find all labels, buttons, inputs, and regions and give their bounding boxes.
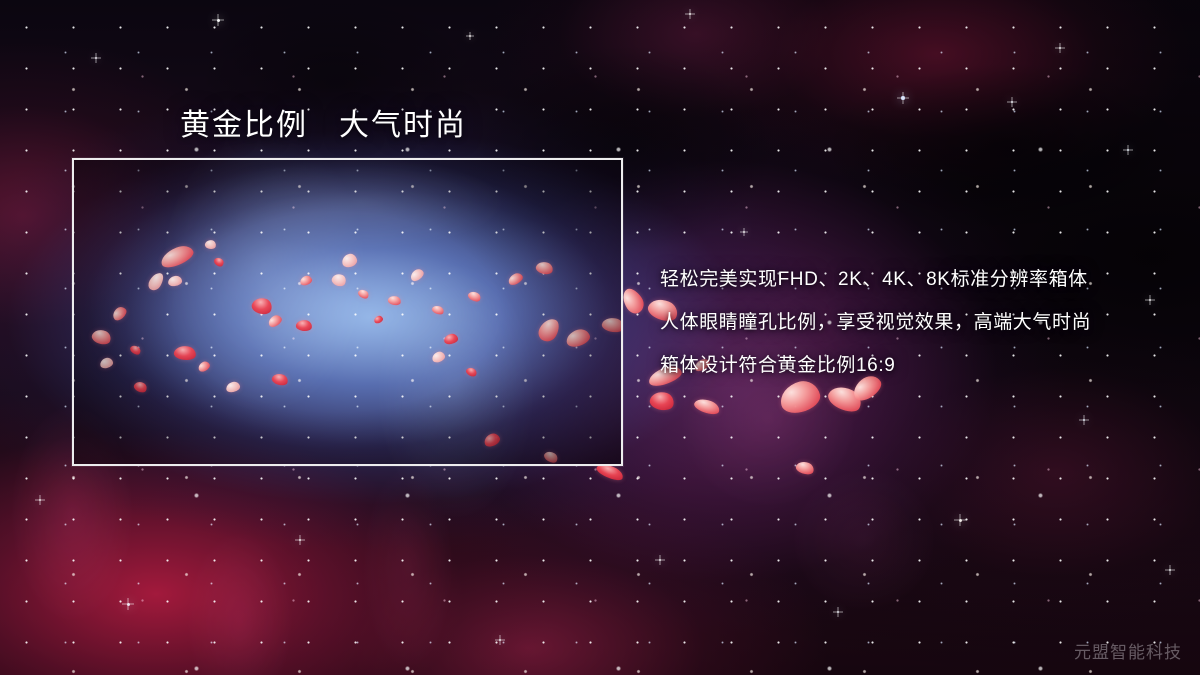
flower-petal <box>357 288 371 301</box>
flower-petal <box>564 327 591 349</box>
flower-petal <box>167 275 182 287</box>
flower-petal <box>408 267 425 283</box>
flower-petal <box>204 239 217 250</box>
flower-petal <box>648 389 676 412</box>
flower-petal <box>295 319 312 332</box>
bright-star <box>39 499 41 501</box>
flower-petal <box>132 380 148 395</box>
flower-petal <box>173 345 197 362</box>
bright-star <box>1059 47 1061 49</box>
flower-petal <box>693 396 722 417</box>
bright-star <box>499 639 502 642</box>
flower-petal <box>542 449 559 464</box>
flower-petal <box>341 253 358 269</box>
flower-petal <box>467 289 483 303</box>
display-preview-panel[interactable] <box>72 158 623 466</box>
flower-petal <box>431 350 446 364</box>
bright-star <box>217 19 220 22</box>
flower-petal <box>535 315 562 345</box>
flower-petal <box>431 304 445 316</box>
description-line: 轻松完美实现FHD、2K、4K、8K标准分辨率箱体 <box>660 258 1190 301</box>
description-line: 箱体设计符合黄金比例16:9 <box>660 344 1190 387</box>
flower-petal <box>146 270 166 292</box>
flower-petal <box>271 372 290 387</box>
flower-petal <box>197 360 212 374</box>
bright-star <box>299 539 302 542</box>
bright-star <box>959 519 962 522</box>
flower-petal <box>129 344 143 357</box>
description-line: 人体眼睛瞳孔比例，享受视觉效果，高端大气时尚 <box>660 301 1190 344</box>
flower-petal <box>387 295 402 307</box>
flower-petal <box>110 304 129 322</box>
flower-petal <box>535 260 555 276</box>
flower-petal <box>225 381 241 394</box>
flower-petal <box>601 316 621 334</box>
bright-star <box>1011 101 1014 104</box>
bright-star <box>743 231 745 233</box>
flower-petal <box>250 295 274 316</box>
flower-petal <box>90 327 113 347</box>
flower-petal <box>299 275 313 287</box>
flower-petal <box>373 315 384 325</box>
flower-petal <box>507 271 525 287</box>
presentation-slide: 黄金比例 大气时尚 轻松完美实现FHD、2K、4K、8K标准分辨率箱体 人体眼睛… <box>0 0 1200 675</box>
flower-petal <box>158 242 196 270</box>
page-title: 黄金比例 大气时尚 <box>180 100 467 144</box>
flower-petal <box>330 272 348 289</box>
display-panel-content <box>74 160 621 464</box>
bright-star <box>659 559 661 561</box>
bright-star <box>1083 419 1086 422</box>
flower-petal <box>213 256 226 269</box>
brand-watermark: 元盟智能科技 <box>1074 638 1182 663</box>
bright-star <box>901 96 904 99</box>
bright-star <box>95 57 97 59</box>
bright-star <box>837 611 840 614</box>
bright-star <box>1127 149 1130 152</box>
feature-description-block: 轻松完美实现FHD、2K、4K、8K标准分辨率箱体 人体眼睛瞳孔比例，享受视觉效… <box>660 258 1190 387</box>
bright-star <box>469 35 471 37</box>
flower-petal <box>99 357 114 370</box>
bright-star <box>1169 569 1172 572</box>
flower-petal <box>482 432 501 449</box>
bright-star <box>689 13 692 16</box>
flower-petal <box>465 366 479 378</box>
flower-petal <box>266 313 283 329</box>
panel-petal-layer <box>74 160 621 464</box>
flower-petal <box>443 333 459 345</box>
flower-petal <box>795 460 816 477</box>
bright-star <box>127 603 130 606</box>
